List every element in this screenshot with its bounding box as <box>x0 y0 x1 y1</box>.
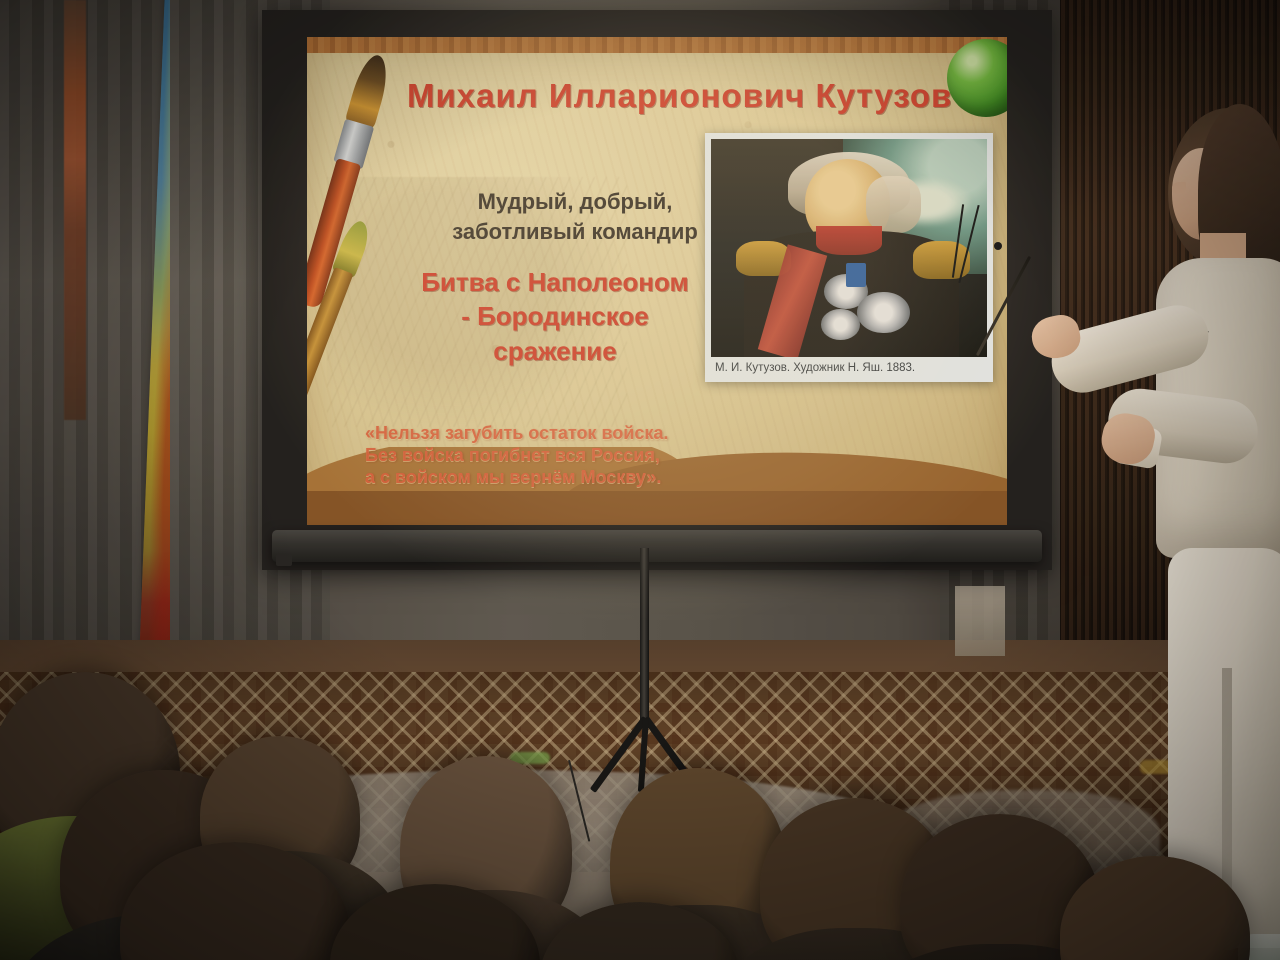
kutuzov-portrait-image <box>711 139 987 357</box>
screen-roller-bar <box>272 530 1042 562</box>
presenter-teacher <box>1060 108 1280 960</box>
side-cabinet <box>955 586 1005 656</box>
tripod-center-post <box>640 548 649 728</box>
kutuzov-portrait-card: М. И. Кутузов. Художник Н. Яш. 1883. <box>705 133 993 382</box>
slide-quote: «Нельзя загубить остаток войска. Без вой… <box>365 423 965 489</box>
slide-wood-top-edge <box>307 37 1007 53</box>
tripod-projection-screen: Михаил Илларионович Кутузов Мудрый, добр… <box>262 10 1052 570</box>
portrait-caption: М. И. Кутузов. Художник Н. Яш. 1883. <box>711 357 987 378</box>
screen-knob <box>276 554 292 566</box>
presentation-slide: Михаил Илларионович Кутузов Мудрый, добр… <box>307 37 1007 525</box>
photo-scene: Михаил Илларионович Кутузов Мудрый, добр… <box>0 0 1280 960</box>
wall-decor-peek <box>64 0 86 420</box>
pointer-tip <box>994 242 1002 250</box>
slide-title: Михаил Илларионович Кутузов <box>407 75 997 117</box>
